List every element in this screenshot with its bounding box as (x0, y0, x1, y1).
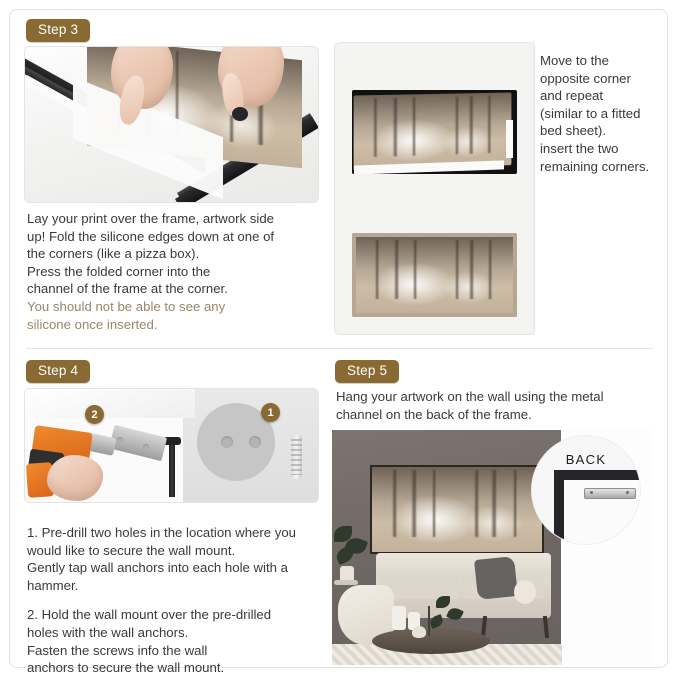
step-3-side-text: Move to the opposite corner and repeat (… (540, 52, 672, 175)
drill-hole-1 (221, 436, 233, 448)
frame-corner-gap (232, 107, 248, 121)
hung-artwork (370, 465, 544, 554)
step-4-text-2: 2. Hold the wall mount over the pre-dril… (27, 606, 327, 676)
step-5-text: Hang your artwork on the wall using the … (336, 388, 656, 423)
bracket-hole-2 (143, 444, 149, 450)
drill-hole-2 (249, 436, 261, 448)
frame-back-left-edge (554, 470, 564, 544)
instruction-sheet: Step 3 Lay your print over the frame, ar… (9, 9, 668, 668)
side-table (334, 580, 358, 585)
step-4-photo: 1 2 (24, 388, 319, 503)
frame-side-gap (506, 120, 513, 158)
step-3-instructions: Lay your print over the frame, artwork s… (27, 210, 327, 333)
channel-screw-1 (590, 491, 593, 494)
step-3-text-main: Lay your print over the frame, artwork s… (27, 210, 327, 298)
back-callout: BACK (532, 436, 640, 544)
artwork-fitting-image (352, 90, 517, 174)
wall-light-shade (25, 389, 195, 418)
section-divider (26, 348, 653, 349)
step-3-badge: Step 3 (26, 19, 90, 42)
bracket-hole-1 (117, 437, 123, 443)
column-divider (533, 40, 534, 336)
step-3-photo (24, 46, 319, 203)
wall-anchor-ribs (291, 439, 302, 475)
back-label: BACK (532, 452, 640, 467)
step-4-text-1: 1. Pre-drill two holes in the location w… (27, 524, 327, 594)
marker-two: 2 (85, 405, 104, 424)
marker-one: 1 (261, 403, 280, 422)
branch-stem (428, 606, 430, 636)
step-5-photo: BACK (332, 430, 652, 665)
frame-back-top-edge (554, 470, 640, 480)
hand-holding-drill (47, 455, 103, 501)
sofa-backrest (376, 553, 551, 577)
bolster-pillow (514, 580, 536, 604)
step-5-badge: Step 5 (335, 360, 399, 383)
step-4-instructions: 1. Pre-drill two holes in the location w… (27, 524, 327, 677)
candle-1 (392, 606, 406, 630)
step-3-text-accent: You should not be able to see any silico… (27, 298, 327, 333)
decor-vase (412, 626, 426, 638)
step-3-artwork-panel (334, 42, 535, 335)
artwork-completed-image (352, 233, 517, 317)
coffee-table (372, 628, 490, 654)
channel-screw-2 (626, 491, 629, 494)
mounting-screw (169, 441, 175, 497)
step-4-badge: Step 4 (26, 360, 90, 383)
throw-pillow (474, 556, 518, 600)
step-3-side-instructions: Move to the opposite corner and repeat (… (540, 52, 672, 175)
